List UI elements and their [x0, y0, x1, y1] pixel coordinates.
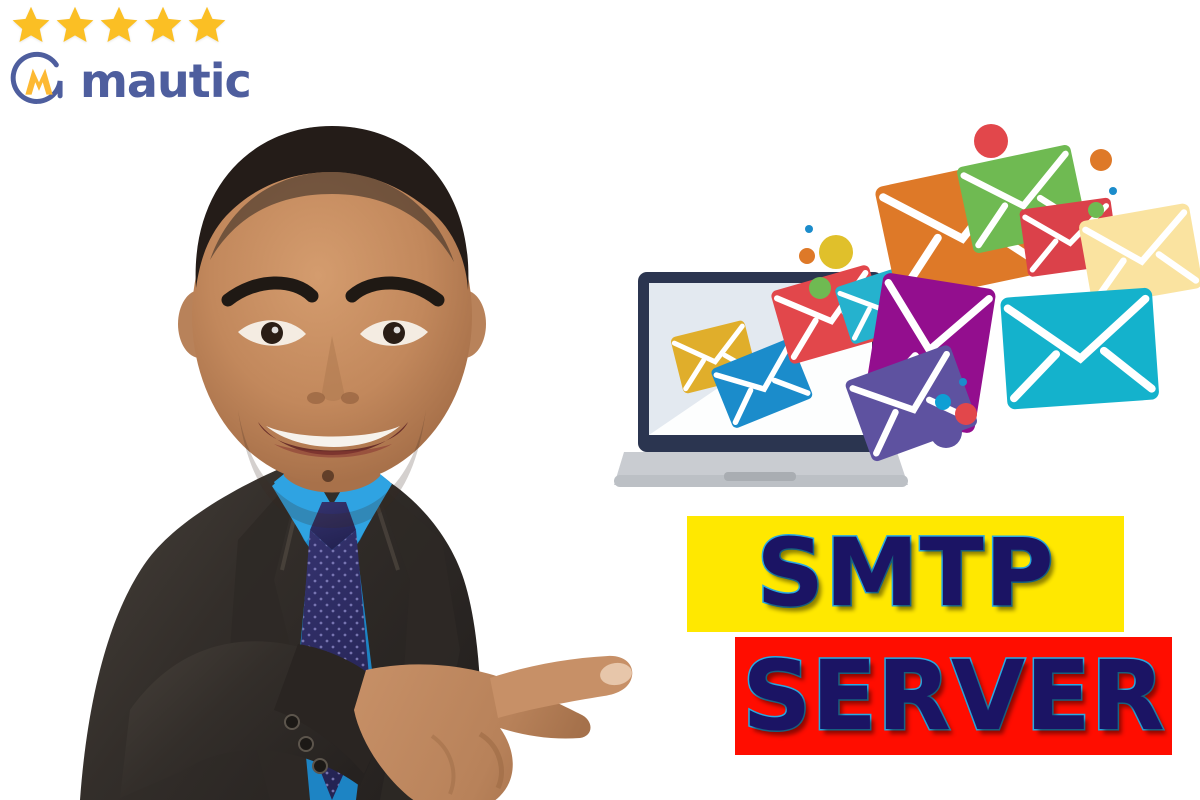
dot-violet [930, 416, 962, 448]
star-icon [10, 4, 52, 46]
smtp-banner: SMTP [687, 516, 1124, 632]
dot-orange-sm [799, 248, 815, 264]
dot-red-low [955, 403, 977, 425]
mautic-circle-m-logo [8, 50, 70, 112]
server-banner: SERVER [735, 637, 1172, 755]
dot-blue-tiny [1109, 187, 1117, 195]
star-rating [4, 4, 254, 46]
dot-orange-top [1090, 149, 1112, 171]
presenter-illustration [60, 110, 660, 800]
dot-green-lap [809, 277, 831, 299]
star-icon [98, 4, 140, 46]
dot-red-top [974, 124, 1008, 158]
dot-cyan-low [935, 394, 951, 410]
mautic-logo: mautic [4, 50, 254, 112]
smtp-banner-text: SMTP [756, 527, 1054, 621]
head [192, 126, 472, 528]
star-icon [186, 4, 228, 46]
env-teal-large [1000, 287, 1159, 409]
chin-mole [322, 470, 334, 482]
presenter-photo [60, 110, 660, 800]
laptop-emails-svg [612, 120, 1200, 500]
dot-blue-sm [805, 225, 813, 233]
mautic-wordmark: mautic [80, 58, 251, 104]
dot-yellow [819, 235, 853, 269]
thumbnail-canvas: mautic [0, 0, 1200, 800]
star-icon [54, 4, 96, 46]
server-banner-text: SERVER [742, 648, 1164, 744]
brand-block: mautic [4, 4, 254, 112]
email-sending-illustration [612, 120, 1200, 500]
star-icon [142, 4, 184, 46]
dot-green-sm [1088, 202, 1104, 218]
dot-blue-low [959, 378, 967, 386]
